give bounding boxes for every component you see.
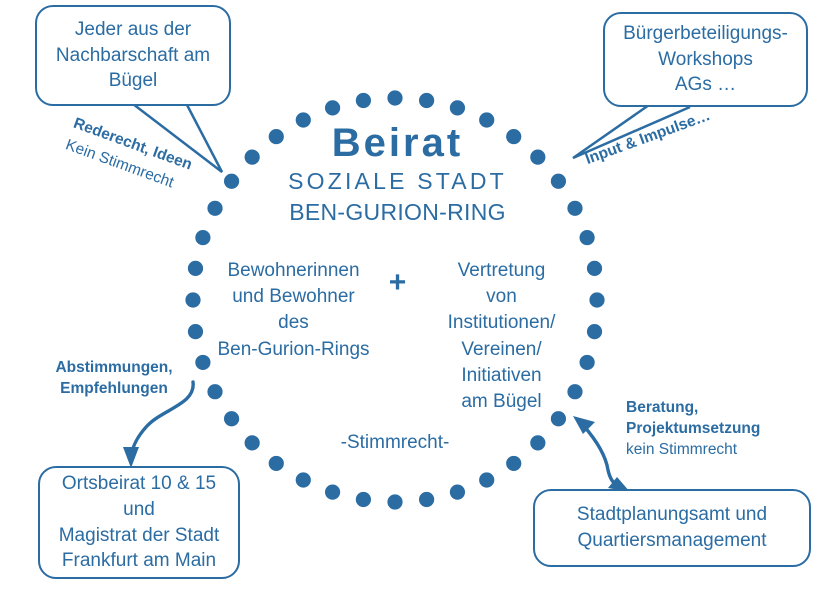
- ring-dot: [419, 93, 434, 108]
- ring-dot: [269, 456, 284, 471]
- annotation-line: Abstimmungen,: [34, 358, 194, 379]
- bubble-line: AGs …: [675, 72, 736, 98]
- center-members-group: Bewohnerinnen und Bewohner des Ben-Gurio…: [205, 258, 590, 415]
- bubble-neighbourhood[interactable]: Jeder aus der Nachbarschaft am Bügel: [35, 5, 231, 106]
- plus-icon: +: [380, 266, 416, 299]
- box-line: Magistrat der Stadt: [59, 523, 220, 549]
- annotation-line-bold: Projektumsetzung: [626, 419, 806, 440]
- center-subtitle-1: SOZIALE STADT: [225, 166, 570, 197]
- center-title: Beirat: [225, 122, 570, 164]
- bubble-line: Bügel: [109, 68, 158, 94]
- annotation-beratung-projektumsetzung: Beratung, Projektumsetzung kein Stimmrec…: [626, 398, 806, 461]
- ring-dot: [589, 292, 604, 307]
- ring-dot: [325, 485, 340, 500]
- column-line: des: [208, 310, 380, 336]
- ring-dot: [580, 230, 595, 245]
- column-line: Vertretung: [416, 258, 588, 284]
- column-line: am Bügel: [416, 389, 588, 415]
- box-stadtplanungsamt-quartiersmanagement[interactable]: Stadtplanungsamt und Quartiersmanagement: [533, 489, 811, 567]
- center-footer-voting-right: -Stimmrecht-: [280, 432, 510, 454]
- ring-dot: [450, 485, 465, 500]
- column-line: Vereinen/: [416, 337, 588, 363]
- ring-dot: [356, 93, 371, 108]
- column-line: Bewohnerinnen: [208, 258, 380, 284]
- ring-dot: [296, 472, 311, 487]
- ring-dot: [506, 456, 521, 471]
- annotation-abstimmungen-empfehlungen: Abstimmungen, Empfehlungen: [34, 358, 194, 400]
- column-line: Ben-Gurion-Rings: [208, 337, 380, 363]
- annotation-line: kein Stimmrecht: [626, 440, 806, 461]
- ring-dot: [479, 472, 494, 487]
- column-line: Initiativen: [416, 363, 588, 389]
- ring-dot: [387, 494, 402, 509]
- ring-dot: [387, 90, 402, 105]
- bubble-line: Workshops: [658, 47, 753, 73]
- column-line: Institutionen/: [416, 310, 588, 336]
- column-line: und Bewohner: [208, 284, 380, 310]
- center-column-institutions: Vertretung von Institutionen/ Vereinen/ …: [416, 258, 588, 415]
- ring-dot: [185, 292, 200, 307]
- ring-dot: [195, 230, 210, 245]
- box-line: Frankfurt am Main: [62, 548, 216, 574]
- diagram-canvas: Jeder aus der Nachbarschaft am Bügel Bür…: [0, 0, 820, 600]
- annotation-line-bold: Beratung,: [626, 398, 806, 419]
- ring-dot: [188, 324, 203, 339]
- center-subtitle-2: BEN-GURION-RING: [225, 198, 570, 228]
- ring-dot: [450, 100, 465, 115]
- box-line: Quartiersmanagement: [577, 528, 766, 554]
- column-line: von: [416, 284, 588, 310]
- ring-dot: [245, 435, 260, 450]
- ring-dot: [188, 261, 203, 276]
- ring-dot: [530, 435, 545, 450]
- bubble-line: Bürgerbeteiligungs-: [623, 21, 788, 47]
- ring-dot: [419, 492, 434, 507]
- bubble-line: Nachbarschaft am: [56, 43, 210, 69]
- ring-dot: [325, 100, 340, 115]
- bubble-participation-formats[interactable]: Bürgerbeteiligungs- Workshops AGs …: [603, 12, 808, 107]
- annotation-line: Empfehlungen: [34, 379, 194, 400]
- center-column-residents: Bewohnerinnen und Bewohner des Ben-Gurio…: [208, 258, 380, 363]
- box-line: Stadtplanungsamt und: [577, 502, 767, 528]
- box-ortsbeirat-magistrat[interactable]: Ortsbeirat 10 & 15 und Magistrat der Sta…: [38, 466, 240, 579]
- center-heading-group: Beirat SOZIALE STADT BEN-GURION-RING: [225, 122, 570, 228]
- bubble-line: Jeder aus der: [75, 17, 191, 43]
- ring-dot: [356, 492, 371, 507]
- ring-dot: [207, 201, 222, 216]
- box-line: und: [123, 497, 155, 523]
- box-line: Ortsbeirat 10 & 15: [62, 471, 216, 497]
